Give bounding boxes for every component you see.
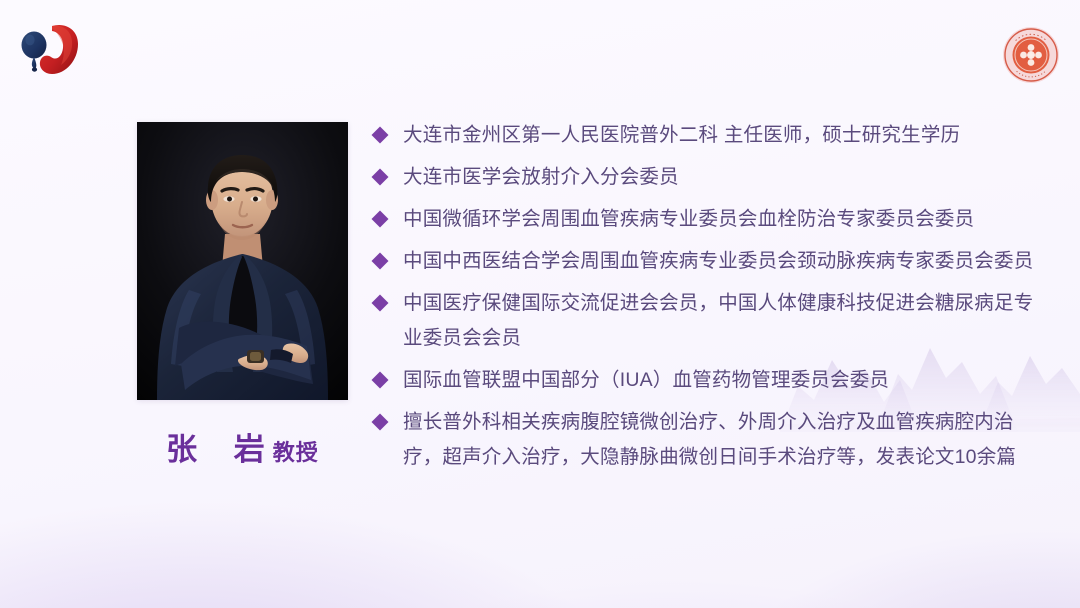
list-item: 中国医疗保健国际交流促进会会员，中国人体健康科技促进会糖尿病足专业委员会会员 — [374, 286, 1034, 356]
list-item-text: 中国中西医结合学会周围血管疾病专业委员会颈动脉疾病专家委员会委员 — [403, 250, 1033, 272]
diamond-bullet-icon — [372, 211, 389, 228]
list-item-text: 中国医疗保健国际交流促进会会员，中国人体健康科技促进会糖尿病足专业委员会会员 — [403, 292, 1033, 349]
list-item-text: 大连市金州区第一人民医院普外二科 主任医师，硕士研究生学历 — [403, 124, 960, 146]
speaker-introduction-slide: 张 岩教授 大连市金州区第一人民医院普外二科 主任医师，硕士研究生学历 大连市医… — [0, 0, 1080, 608]
diamond-bullet-icon — [372, 253, 389, 270]
list-item-text: 中国微循环学会周围血管疾病专业委员会血栓防治专家委员会委员 — [403, 208, 974, 230]
diamond-bullet-icon — [372, 372, 389, 389]
diamond-bullet-icon — [372, 295, 389, 312]
avatar — [137, 122, 348, 400]
diamond-bullet-icon — [372, 169, 389, 186]
speaker-photo — [137, 122, 348, 400]
list-item: 大连市医学会放射介入分会委员 — [374, 160, 1034, 195]
brand-ribbon-logo — [14, 18, 88, 82]
diamond-bullet-icon — [372, 414, 389, 431]
list-item-text: 擅长普外科相关疾病腹腔镜微创治疗、外周介入治疗及血管疾病腔内治疗，超声介入治疗，… — [403, 411, 1016, 468]
speaker-title: 教授 — [273, 440, 319, 465]
speaker-name: 张 岩 — [166, 432, 279, 467]
list-item: 中国中西医结合学会周围血管疾病专业委员会颈动脉疾病专家委员会委员 — [374, 244, 1034, 279]
speaker-name-block: 张 岩教授 — [137, 424, 348, 469]
list-item: 国际血管联盟中国部分（IUA）血管药物管理委员会委员 — [374, 363, 1034, 398]
list-item-text: 大连市医学会放射介入分会委员 — [403, 166, 679, 188]
speaker-bio-list: 大连市金州区第一人民医院普外二科 主任医师，硕士研究生学历 大连市医学会放射介入… — [374, 118, 1034, 482]
list-item: 大连市金州区第一人民医院普外二科 主任医师，硕士研究生学历 — [374, 118, 1034, 153]
list-item: 擅长普外科相关疾病腹腔镜微创治疗、外周介入治疗及血管疾病腔内治疗，超声介入治疗，… — [374, 405, 1034, 475]
diamond-bullet-icon — [372, 127, 389, 144]
list-item: 中国微循环学会周围血管疾病专业委员会血栓防治专家委员会委员 — [374, 202, 1034, 237]
hospital-seal-logo — [1002, 26, 1060, 84]
list-item-text: 国际血管联盟中国部分（IUA）血管药物管理委员会委员 — [403, 369, 889, 391]
